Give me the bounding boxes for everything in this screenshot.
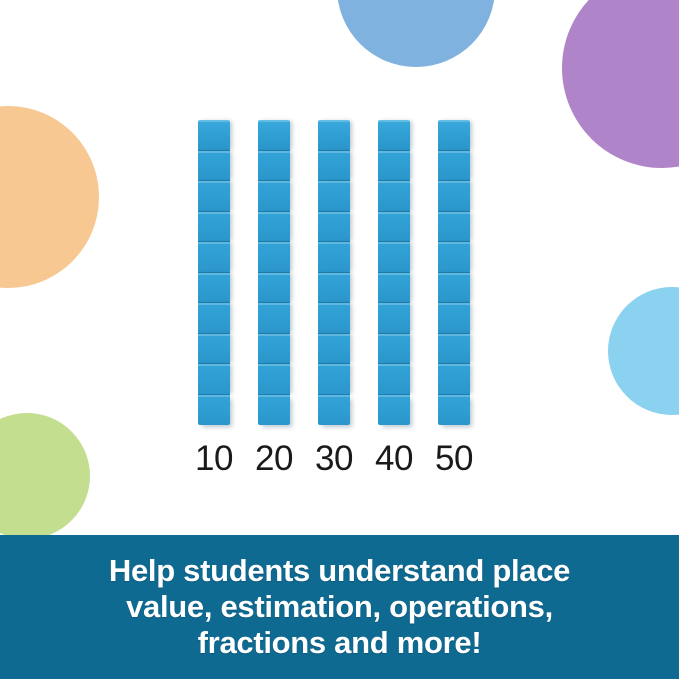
unit-cube: [198, 334, 230, 365]
unit-cube: [378, 273, 410, 304]
unit-cube: [258, 303, 290, 334]
banner-headline: Help students understand place value, es…: [20, 553, 660, 661]
unit-cube: [318, 151, 350, 182]
unit-cube: [378, 120, 410, 151]
rod-value-label: 40: [364, 437, 424, 481]
unit-cube: [258, 334, 290, 365]
unit-cube: [318, 395, 350, 426]
unit-cube: [438, 303, 470, 334]
base-ten-rod: [318, 120, 350, 425]
unit-cube: [198, 151, 230, 182]
unit-cube: [258, 181, 290, 212]
unit-cube: [438, 364, 470, 395]
unit-cube: [198, 120, 230, 151]
unit-cube: [258, 120, 290, 151]
promo-graphic: 1020304050 Help students understand plac…: [0, 0, 679, 679]
unit-cube: [378, 212, 410, 243]
unit-cube: [378, 303, 410, 334]
bottom-banner: Help students understand place value, es…: [0, 535, 679, 679]
unit-cube: [198, 242, 230, 273]
unit-cube: [318, 120, 350, 151]
rod-value-label: 10: [184, 437, 244, 481]
unit-cube: [378, 181, 410, 212]
unit-cube: [438, 395, 470, 426]
unit-cube: [438, 181, 470, 212]
rod-value-label: 50: [424, 437, 484, 481]
unit-cube: [258, 395, 290, 426]
unit-cube: [438, 242, 470, 273]
unit-cube: [318, 303, 350, 334]
unit-cube: [318, 212, 350, 243]
unit-cube: [438, 120, 470, 151]
rod-value-label: 30: [304, 437, 364, 481]
base-ten-rod: [198, 120, 230, 425]
unit-cube: [318, 181, 350, 212]
unit-cube: [318, 334, 350, 365]
unit-cube: [318, 273, 350, 304]
unit-cube: [258, 242, 290, 273]
unit-cube: [258, 273, 290, 304]
unit-cube: [198, 395, 230, 426]
unit-cube: [378, 364, 410, 395]
unit-cube: [198, 181, 230, 212]
base-ten-rod: [258, 120, 290, 425]
rod-value-label: 20: [244, 437, 304, 481]
unit-cube: [378, 334, 410, 365]
unit-cube: [198, 303, 230, 334]
unit-cube: [378, 395, 410, 426]
unit-cube: [258, 212, 290, 243]
unit-cube: [378, 151, 410, 182]
unit-cube: [198, 364, 230, 395]
unit-cube: [438, 212, 470, 243]
unit-cube: [438, 151, 470, 182]
unit-cube: [258, 151, 290, 182]
unit-cube: [438, 334, 470, 365]
unit-cube: [438, 273, 470, 304]
unit-cube: [198, 212, 230, 243]
rod-labels-row: 1020304050: [0, 437, 679, 487]
unit-cube: [318, 242, 350, 273]
unit-cube: [198, 273, 230, 304]
unit-cube: [318, 364, 350, 395]
base-ten-rod: [438, 120, 470, 425]
base-ten-rod: [378, 120, 410, 425]
unit-cube: [378, 242, 410, 273]
unit-cube: [258, 364, 290, 395]
